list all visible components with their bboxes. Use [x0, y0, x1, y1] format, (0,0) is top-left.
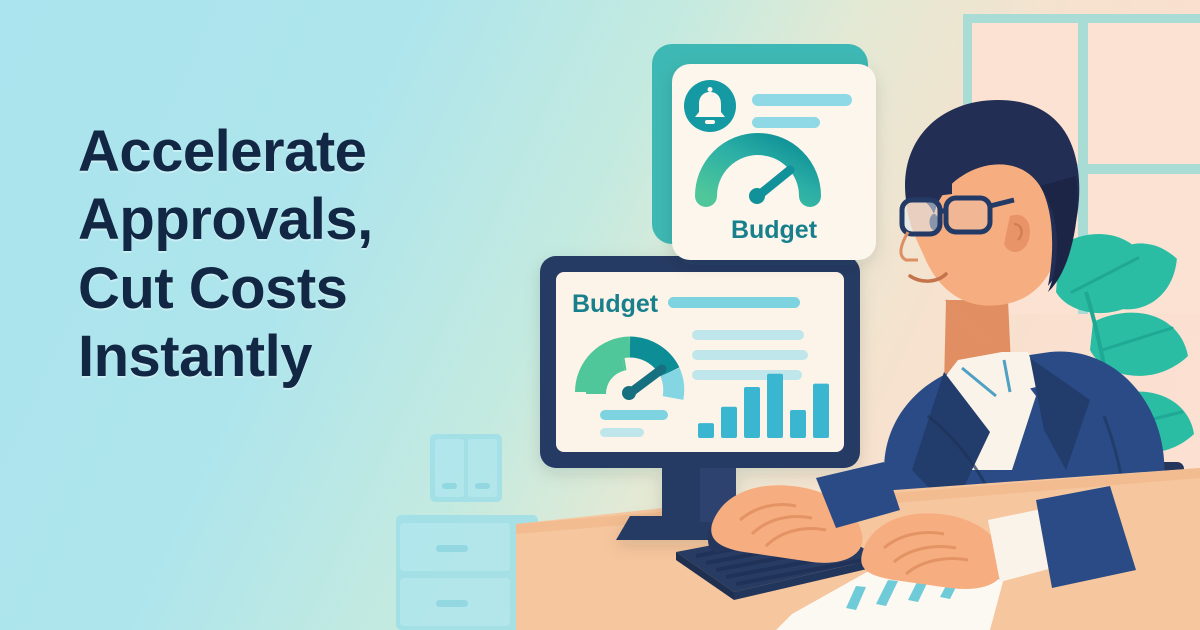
headline-line-1: Accelerate: [78, 118, 548, 186]
screen-title: Budget: [572, 290, 659, 318]
screen-summary-line: [600, 410, 668, 420]
bar-6: [813, 384, 829, 438]
screen-text-line: [692, 370, 802, 380]
card-text-line: [752, 117, 820, 128]
page-title: Accelerate Approvals, Cut Costs Instantl…: [78, 118, 548, 392]
bar-2: [721, 407, 737, 438]
screen-summary-line: [600, 428, 644, 437]
card-text-line: [752, 94, 852, 106]
poster-canvas: Budget: [0, 0, 1200, 630]
headline-line-3: Cut Costs: [78, 255, 548, 323]
headline-line-4: Instantly: [78, 323, 548, 391]
bar-5: [790, 410, 806, 438]
bar-3: [744, 387, 760, 438]
bar-4: [767, 374, 783, 438]
screen-text-line: [692, 330, 804, 340]
card-gauge-label: Budget: [731, 216, 818, 244]
bar-1: [698, 423, 714, 438]
gauge-hub: [622, 386, 636, 400]
budget-alert-card[interactable]: Budget: [652, 44, 876, 260]
gauge-segment-over: [670, 372, 674, 398]
bell-icon: [684, 80, 736, 132]
card-gauge-hub: [749, 188, 765, 204]
screen-text-line: [668, 297, 800, 308]
headline-line-2: Approvals,: [78, 186, 548, 254]
screen-text-line: [692, 350, 808, 360]
